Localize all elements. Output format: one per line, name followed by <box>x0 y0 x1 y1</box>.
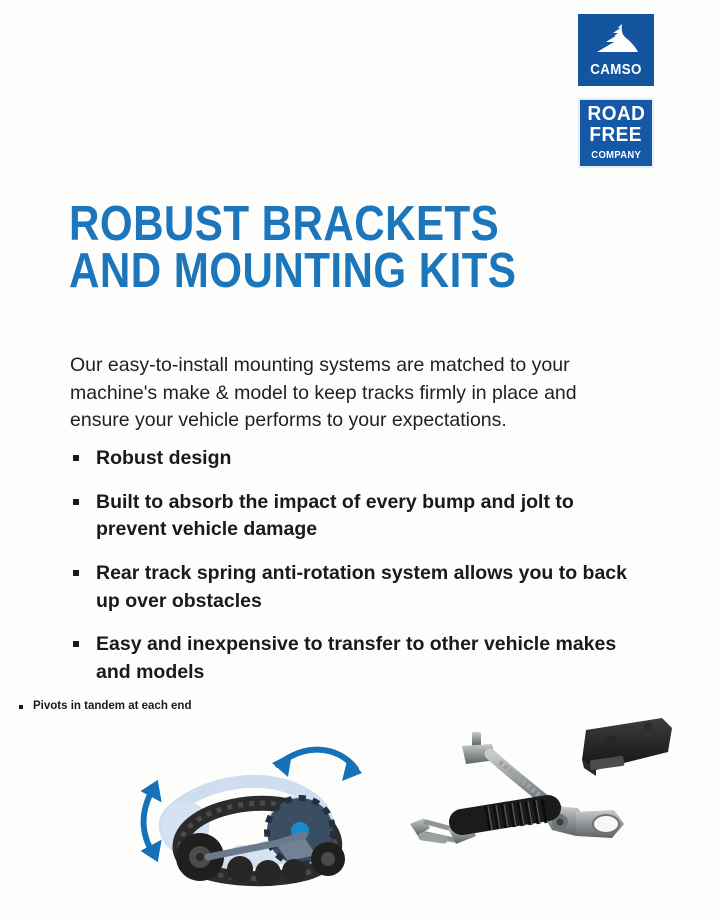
square-bullet-icon <box>73 499 79 505</box>
rear-wheel <box>311 842 345 876</box>
horizontal-pivot-arrow <box>272 750 362 781</box>
list-item: Rear track spring anti-rotation system a… <box>70 560 630 615</box>
square-bullet-icon <box>73 641 79 647</box>
camso-wordmark: CAMSO <box>581 62 651 78</box>
list-item: Easy and inexpensive to transfer to othe… <box>70 631 630 686</box>
bogie-wheels <box>227 856 306 886</box>
camso-logo-badge: CAMSO <box>578 14 654 86</box>
list-item-label: Built to absorb the impact of every bump… <box>96 491 574 541</box>
spring-damper-rod-photo <box>410 799 548 844</box>
footnote-caption: Pivots in tandem at each end <box>19 700 191 712</box>
footnote-label: Pivots in tandem at each end <box>33 700 191 712</box>
feature-list: Robust design Built to absorb the impact… <box>70 445 630 703</box>
badge-line-company: COMPANY <box>591 150 641 161</box>
camso-mountain-icon <box>592 23 640 53</box>
headline-line-2: AND MOUNTING KITS <box>69 248 516 296</box>
list-item: Built to absorb the impact of every bump… <box>70 489 630 544</box>
intro-text: Our easy-to-install mounting systems are… <box>70 352 630 435</box>
square-bullet-icon <box>19 705 23 709</box>
marketing-page: CAMSO ROAD FREE COMPANY ROBUST BRACKETS … <box>0 0 720 920</box>
square-bullet-icon <box>73 455 79 461</box>
mounting-hardware-photos <box>400 712 712 887</box>
intro-paragraph: Our easy-to-install mounting systems are… <box>70 352 630 435</box>
brand-logo-block: CAMSO ROAD FREE COMPANY <box>578 14 654 168</box>
badge-line-road: ROAD <box>587 105 645 125</box>
badge-line-free: FREE <box>590 126 643 146</box>
track-system-pivot-diagram <box>128 735 398 905</box>
road-free-company-badge: ROAD FREE COMPANY <box>578 98 654 168</box>
list-item: Robust design <box>70 445 630 473</box>
square-bullet-icon <box>73 570 79 576</box>
list-item-label: Robust design <box>96 447 231 469</box>
page-title: ROBUST BRACKETS AND MOUNTING KITS <box>69 201 589 296</box>
list-item-label: Easy and inexpensive to transfer to othe… <box>96 633 616 683</box>
list-item-label: Rear track spring anti-rotation system a… <box>96 562 627 612</box>
headline-line-1: ROBUST BRACKETS <box>69 201 516 249</box>
black-mounting-bracket-photo <box>582 718 672 776</box>
